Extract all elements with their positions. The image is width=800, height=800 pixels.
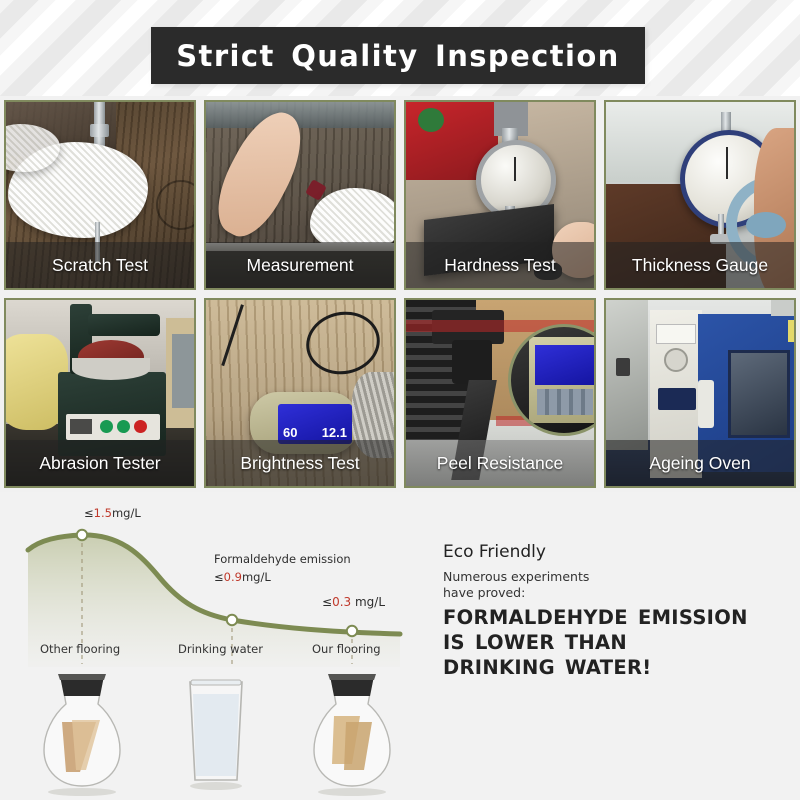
caption-text: Brightness Test (240, 453, 359, 474)
photo-caption: Scratch Test (6, 242, 194, 288)
eco-subtitle-line2: have proved: (443, 585, 589, 601)
caption-text: Ageing Oven (649, 453, 750, 474)
photo-caption: Thickness Gauge (606, 242, 794, 288)
photo-caption: Hardness Test (406, 242, 594, 288)
page-title: Strict Quality Inspection (176, 39, 619, 73)
grid-cell-peel-resistance[interactable]: Peel Resistance (400, 294, 600, 492)
eco-claim-line3: DRINKING WATER! (443, 655, 748, 680)
vessels-svg (0, 660, 430, 800)
photo-frame: Thickness Gauge (604, 100, 796, 290)
eco-claim-line1: FORMALDEHYDE EMISSION (443, 605, 748, 630)
grid-cell-scratch-test[interactable]: Scratch Test (0, 96, 200, 294)
chart-value-label-our-flooring: ≤0.3 mg/L (322, 595, 385, 609)
photo-caption: Peel Resistance (406, 440, 594, 486)
chart-series-title: Formaldehyde emission (214, 552, 351, 566)
chart-point-our-flooring (347, 626, 357, 636)
poster-page: Strict Quality Inspection Scratch Test (0, 0, 800, 800)
title-banner: Strict Quality Inspection (151, 27, 645, 84)
chart-point-other-flooring (77, 530, 87, 540)
vessel-other-flooring (44, 674, 120, 796)
photo-frame: 60 12.1 Brightness Test (204, 298, 396, 488)
brightness-reading-2: 12.1 (322, 425, 347, 440)
photo-caption: Brightness Test (206, 440, 394, 486)
photo-frame: Abrasion Tester (4, 298, 196, 488)
photo-frame: Peel Resistance (404, 298, 596, 488)
vessel-drinking-water (190, 680, 242, 790)
chart-value-label-other-flooring: ≤1.5mg/L (84, 506, 141, 520)
photo-caption: Ageing Oven (606, 440, 794, 486)
photo-frame: Ageing Oven (604, 298, 796, 488)
page-header: Strict Quality Inspection (0, 0, 800, 96)
grid-cell-hardness-test[interactable]: Hardness Test (400, 96, 600, 294)
grid-cell-ageing-oven[interactable]: Ageing Oven (600, 294, 800, 492)
vessel-illustrations: Other flooring Drinking water Our floori… (0, 660, 430, 800)
caption-text: Thickness Gauge (632, 255, 768, 276)
grid-cell-thickness-gauge[interactable]: Thickness Gauge (600, 96, 800, 294)
vessel-our-flooring (314, 674, 390, 796)
grid-cell-abrasion-tester[interactable]: Abrasion Tester (0, 294, 200, 492)
eco-text-block: Eco Friendly Numerous experiments have p… (443, 542, 589, 601)
photo-caption: Measurement (206, 242, 394, 288)
photo-frame: Hardness Test (404, 100, 596, 290)
caption-text: Hardness Test (444, 255, 556, 276)
eco-section: ≤1.5mg/L Formaldehyde emission ≤0.9mg/L … (0, 492, 800, 800)
eco-heading: Eco Friendly (443, 542, 589, 562)
photo-frame: Scratch Test (4, 100, 196, 290)
caption-text: Measurement (247, 255, 354, 276)
photo-caption: Abrasion Tester (6, 440, 194, 486)
grid-cell-brightness-test[interactable]: 60 12.1 Brightness Test (200, 294, 400, 492)
chart-point-drinking-water (227, 615, 237, 625)
brightness-reading-1: 60 (283, 425, 297, 440)
eco-claim: FORMALDEHYDE EMISSION IS LOWER THAN DRIN… (443, 605, 748, 680)
caption-text: Abrasion Tester (39, 453, 160, 474)
photo-frame: Measurement (204, 100, 396, 290)
caption-text: Peel Resistance (437, 453, 563, 474)
eco-subtitle-line1: Numerous experiments (443, 569, 589, 585)
chart-value-label-drinking-water: ≤0.9mg/L (214, 570, 271, 584)
grid-cell-measurement[interactable]: Measurement (200, 96, 400, 294)
inspection-photo-grid: Scratch Test Measurement (0, 96, 800, 492)
caption-text: Scratch Test (52, 255, 148, 276)
eco-claim-line2: IS LOWER THAN (443, 630, 748, 655)
